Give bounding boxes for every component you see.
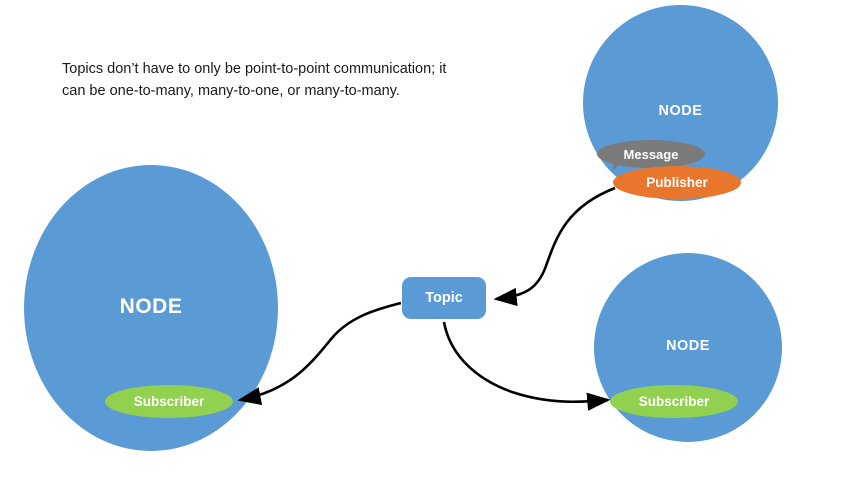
arrow-publisher-to-topic (496, 188, 615, 299)
caption-text: Topics don’t have to only be point-to-po… (62, 58, 492, 103)
topic-box: Topic (402, 277, 486, 319)
subscriber-left-ellipse: Subscriber (105, 385, 233, 418)
diagram-canvas: Topics don’t have to only be point-to-po… (0, 0, 854, 480)
subscriber-right-ellipse: Subscriber (610, 385, 738, 418)
message-label: Message (597, 140, 705, 168)
arrow-topic-to-subscriber-right (444, 322, 608, 402)
publisher-ellipse: Publisher (613, 166, 741, 199)
node-left-label: NODE (24, 295, 278, 319)
message-callout: Message (597, 140, 705, 168)
node-topright-label: NODE (583, 103, 778, 119)
node-bottomright-label: NODE (594, 338, 782, 354)
